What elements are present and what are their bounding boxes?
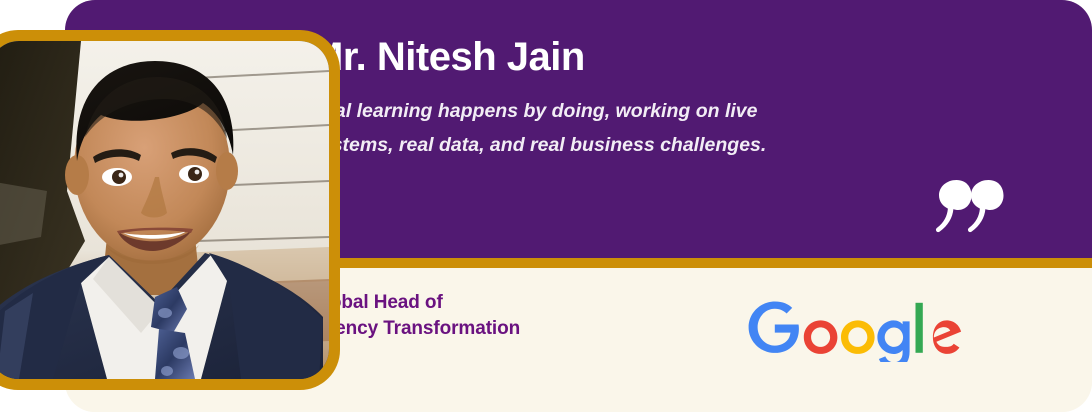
quote-line-2: systems, real data, and real business ch… bbox=[310, 134, 766, 156]
quote-line-1: Real learning happens by doing, working … bbox=[310, 100, 757, 122]
quote-text: Real learning happens by doing, working … bbox=[310, 94, 930, 162]
portrait-clip bbox=[0, 41, 329, 379]
quote-block: Mr. Nitesh Jain Real learning happens by… bbox=[310, 34, 930, 162]
speaker-name: Mr. Nitesh Jain bbox=[310, 34, 930, 80]
google-wordmark-logo bbox=[740, 290, 970, 362]
portrait-frame bbox=[0, 30, 340, 390]
role-line-1: Global Head of bbox=[310, 290, 520, 316]
role-line-2: Agency Transformation bbox=[310, 316, 520, 342]
speaker-testimonial-card: Mr. Nitesh Jain Real learning happens by… bbox=[0, 0, 1092, 412]
speaker-role: Global Head of Agency Transformation bbox=[310, 290, 520, 341]
portrait-photo bbox=[0, 41, 329, 379]
